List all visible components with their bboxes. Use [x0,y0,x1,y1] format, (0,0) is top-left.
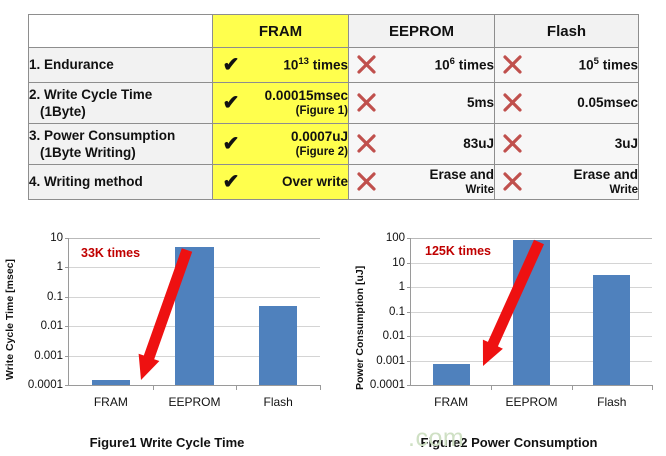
table-header-row: FRAM EEPROM Flash [29,15,639,48]
figure2-caption: Figure2 Power Consumption [352,435,666,450]
y-tick-label: 0.1 [389,306,405,318]
figure1-y-ticks: 0.00010.0010.010.1110 [24,232,68,412]
figure1-y-axis-label: Write Cycle Time [msec] [4,230,16,380]
figure2-chart: Power Consumption [uJ] 0.00010.0010.010.… [352,228,666,454]
y-tickmark [65,356,69,357]
x-category-label: EEPROM [153,395,237,409]
x-category-label: Flash [236,395,320,409]
watermark: .com [408,424,464,453]
y-tickmark [407,385,411,386]
y-tickmark [65,238,69,239]
cross-icon [502,171,524,193]
x-category-label: FRAM [411,395,491,409]
gridline [69,238,320,239]
y-tickmark [407,312,411,313]
bar-fram [433,364,470,385]
header-flash: Flash [495,15,639,48]
cell-flash: Erase andWrite [495,165,639,200]
x-tickmark [572,385,573,390]
row-label: 1. Endurance [29,48,213,83]
y-tick-label: 1 [399,281,405,293]
y-tickmark [407,336,411,337]
x-category-label: Flash [572,395,652,409]
table-row: 1. Endurance✔1013 times106 times105 time… [29,48,639,83]
cross-icon [356,133,378,155]
row-label: 2. Write Cycle Time(1Byte) [29,83,213,124]
annotation-label: 125K times [425,244,491,258]
y-tick-label: 0.1 [47,291,63,303]
check-icon: ✔ [220,54,242,76]
figure2-y-axis-label: Power Consumption [uJ] [354,240,366,390]
row-label: 3. Power Consumption(1Byte Writing) [29,124,213,165]
check-icon: ✔ [220,171,242,193]
cell-eeprom: 83uJ [349,124,495,165]
y-tickmark [65,326,69,327]
row-label: 4. Writing method [29,165,213,200]
figure1-chart: Write Cycle Time [msec] 0.00010.0010.010… [2,228,332,454]
y-tick-label: 0.001 [376,355,405,367]
cell-flash: 0.05msec [495,83,639,124]
bar-eeprom [175,247,213,385]
y-tick-label: 100 [386,232,405,244]
bar-eeprom [513,240,550,385]
y-tick-label: 0.001 [34,350,63,362]
table-row: 2. Write Cycle Time(1Byte)✔0.00015msec(F… [29,83,639,124]
table-row: 4. Writing method✔Over writeErase andWri… [29,165,639,200]
cross-icon [502,54,524,76]
y-tickmark [65,385,69,386]
header-fram: FRAM [213,15,349,48]
comparison-table: FRAM EEPROM Flash 1. Endurance✔1013 time… [28,14,639,200]
header-blank [29,15,213,48]
cell-fram: ✔Over write [213,165,349,200]
y-tick-label: 10 [392,257,405,269]
annotation-label: 33K times [81,246,140,260]
figure1-caption: Figure1 Write Cycle Time [2,435,332,450]
cell-fram: ✔0.0007uJ(Figure 2) [213,124,349,165]
check-icon: ✔ [220,133,242,155]
y-tick-label: 0.01 [41,320,63,332]
x-tickmark [236,385,237,390]
figure2-y-ticks: 0.00010.0010.010.1110100 [366,232,410,412]
check-icon: ✔ [220,92,242,114]
cell-eeprom: 106 times [349,48,495,83]
cell-eeprom: Erase andWrite [349,165,495,200]
cross-icon [502,133,524,155]
cross-icon [356,54,378,76]
y-tickmark [407,238,411,239]
cross-icon [502,92,524,114]
y-tick-label: 1 [57,261,63,273]
table-row: 3. Power Consumption(1Byte Writing)✔0.00… [29,124,639,165]
header-eeprom: EEPROM [349,15,495,48]
y-tickmark [65,297,69,298]
bar-flash [259,306,297,385]
cell-fram: ✔0.00015msec(Figure 1) [213,83,349,124]
figure1-plot-area: FRAMEEPROMFlash33K times [68,238,320,386]
cross-icon [356,171,378,193]
x-tickmark [320,385,321,390]
x-tickmark [652,385,653,390]
bar-flash [593,275,630,385]
gridline [411,238,652,239]
cross-icon [356,92,378,114]
cell-fram: ✔1013 times [213,48,349,83]
y-tickmark [407,361,411,362]
y-tick-label: 10 [50,232,63,244]
x-tickmark [491,385,492,390]
y-tickmark [407,287,411,288]
cell-flash: 105 times [495,48,639,83]
cell-flash: 3uJ [495,124,639,165]
x-tickmark [153,385,154,390]
y-tick-label: 0.0001 [370,379,405,391]
x-category-label: EEPROM [491,395,571,409]
cell-eeprom: 5ms [349,83,495,124]
x-category-label: FRAM [69,395,153,409]
figure2-plot-area: FRAMEEPROMFlash125K times [410,238,652,386]
y-tick-label: 0.01 [383,330,405,342]
bar-fram [92,380,130,385]
y-tick-label: 0.0001 [28,379,63,391]
y-tickmark [65,267,69,268]
y-tickmark [407,263,411,264]
